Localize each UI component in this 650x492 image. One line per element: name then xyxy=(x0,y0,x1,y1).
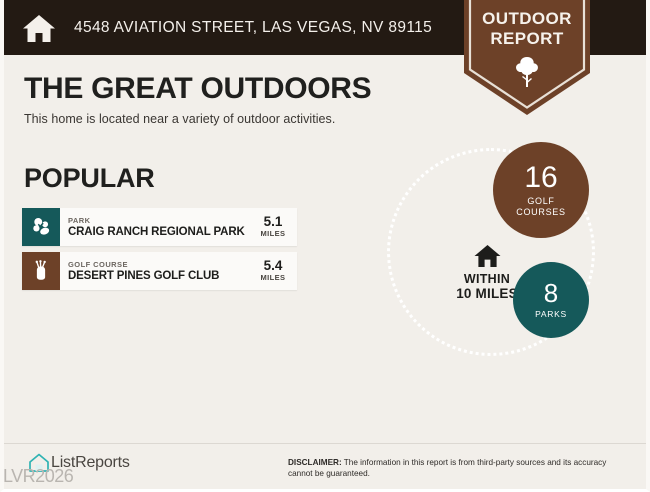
poi-icon-box xyxy=(22,252,60,290)
title-block: THE GREAT OUTDOORS This home is located … xyxy=(24,72,371,126)
poi-distance-unit: MILES xyxy=(261,273,286,283)
stat-bubble-golf-courses: 16 GOLF COURSES xyxy=(493,142,589,238)
poi-text: GOLF COURSE DESERT PINES GOLF CLUB xyxy=(60,252,253,290)
disclaimer-label: DISCLAIMER: xyxy=(288,458,342,467)
stat-label-line2: COURSES xyxy=(516,207,565,218)
property-address: 4548 AVIATION STREET, LAS VEGAS, NV 8911… xyxy=(74,19,432,37)
poi-text: PARK CRAIG RANCH REGIONAL PARK xyxy=(60,208,253,246)
stat-value: 16 xyxy=(524,163,557,193)
poi-icon-box xyxy=(22,208,60,246)
stat-label-line1: PARKS xyxy=(535,309,567,320)
home-icon xyxy=(474,244,501,268)
poi-distance: 5.1 MILES xyxy=(253,208,297,246)
stat-value: 8 xyxy=(544,280,558,306)
popular-list: PARK CRAIG RANCH REGIONAL PARK 5.1 MILES… xyxy=(22,208,297,296)
poi-name: CRAIG RANCH REGIONAL PARK xyxy=(68,225,253,239)
stat-label: PARKS xyxy=(535,309,567,320)
radius-diagram: WITHIN 10 MILES 16 GOLF COURSES 8 PARKS xyxy=(355,130,625,400)
list-item[interactable]: PARK CRAIG RANCH REGIONAL PARK 5.1 MILES xyxy=(22,208,297,246)
poi-distance-value: 5.1 xyxy=(264,215,283,229)
poi-category: GOLF COURSE xyxy=(68,260,253,269)
poi-distance: 5.4 MILES xyxy=(253,252,297,290)
poi-distance-unit: MILES xyxy=(261,229,286,239)
stat-label-line1: GOLF xyxy=(516,196,565,207)
listreports-house-icon xyxy=(28,452,50,473)
list-item[interactable]: GOLF COURSE DESERT PINES GOLF CLUB 5.4 M… xyxy=(22,252,297,290)
home-icon xyxy=(22,13,56,43)
outdoor-report-page: 4548 AVIATION STREET, LAS VEGAS, NV 8911… xyxy=(0,0,650,492)
park-tree-icon xyxy=(30,216,52,238)
footer: ListReports DISCLAIMER: The information … xyxy=(0,444,650,492)
page-subtitle: This home is located near a variety of o… xyxy=(24,112,371,126)
badge-title-line2: REPORT xyxy=(464,29,590,49)
tree-icon xyxy=(514,56,540,88)
golf-bag-icon xyxy=(30,260,52,282)
listreports-logo-text: ListReports xyxy=(51,454,130,472)
stat-bubble-parks: 8 PARKS xyxy=(513,262,589,338)
page-title: THE GREAT OUTDOORS xyxy=(24,72,371,106)
badge-title-line1: OUTDOOR xyxy=(464,9,590,29)
listreports-logo[interactable]: ListReports xyxy=(28,452,130,473)
stat-label: GOLF COURSES xyxy=(516,196,565,218)
poi-distance-value: 5.4 xyxy=(264,259,283,273)
badge-title: OUTDOOR REPORT xyxy=(464,9,590,49)
poi-category: PARK xyxy=(68,216,253,225)
poi-name: DESERT PINES GOLF CLUB xyxy=(68,269,253,283)
disclaimer: DISCLAIMER: The information in this repo… xyxy=(288,457,618,479)
popular-section-heading: POPULAR xyxy=(24,163,155,194)
outdoor-report-badge: OUTDOOR REPORT xyxy=(464,0,590,115)
